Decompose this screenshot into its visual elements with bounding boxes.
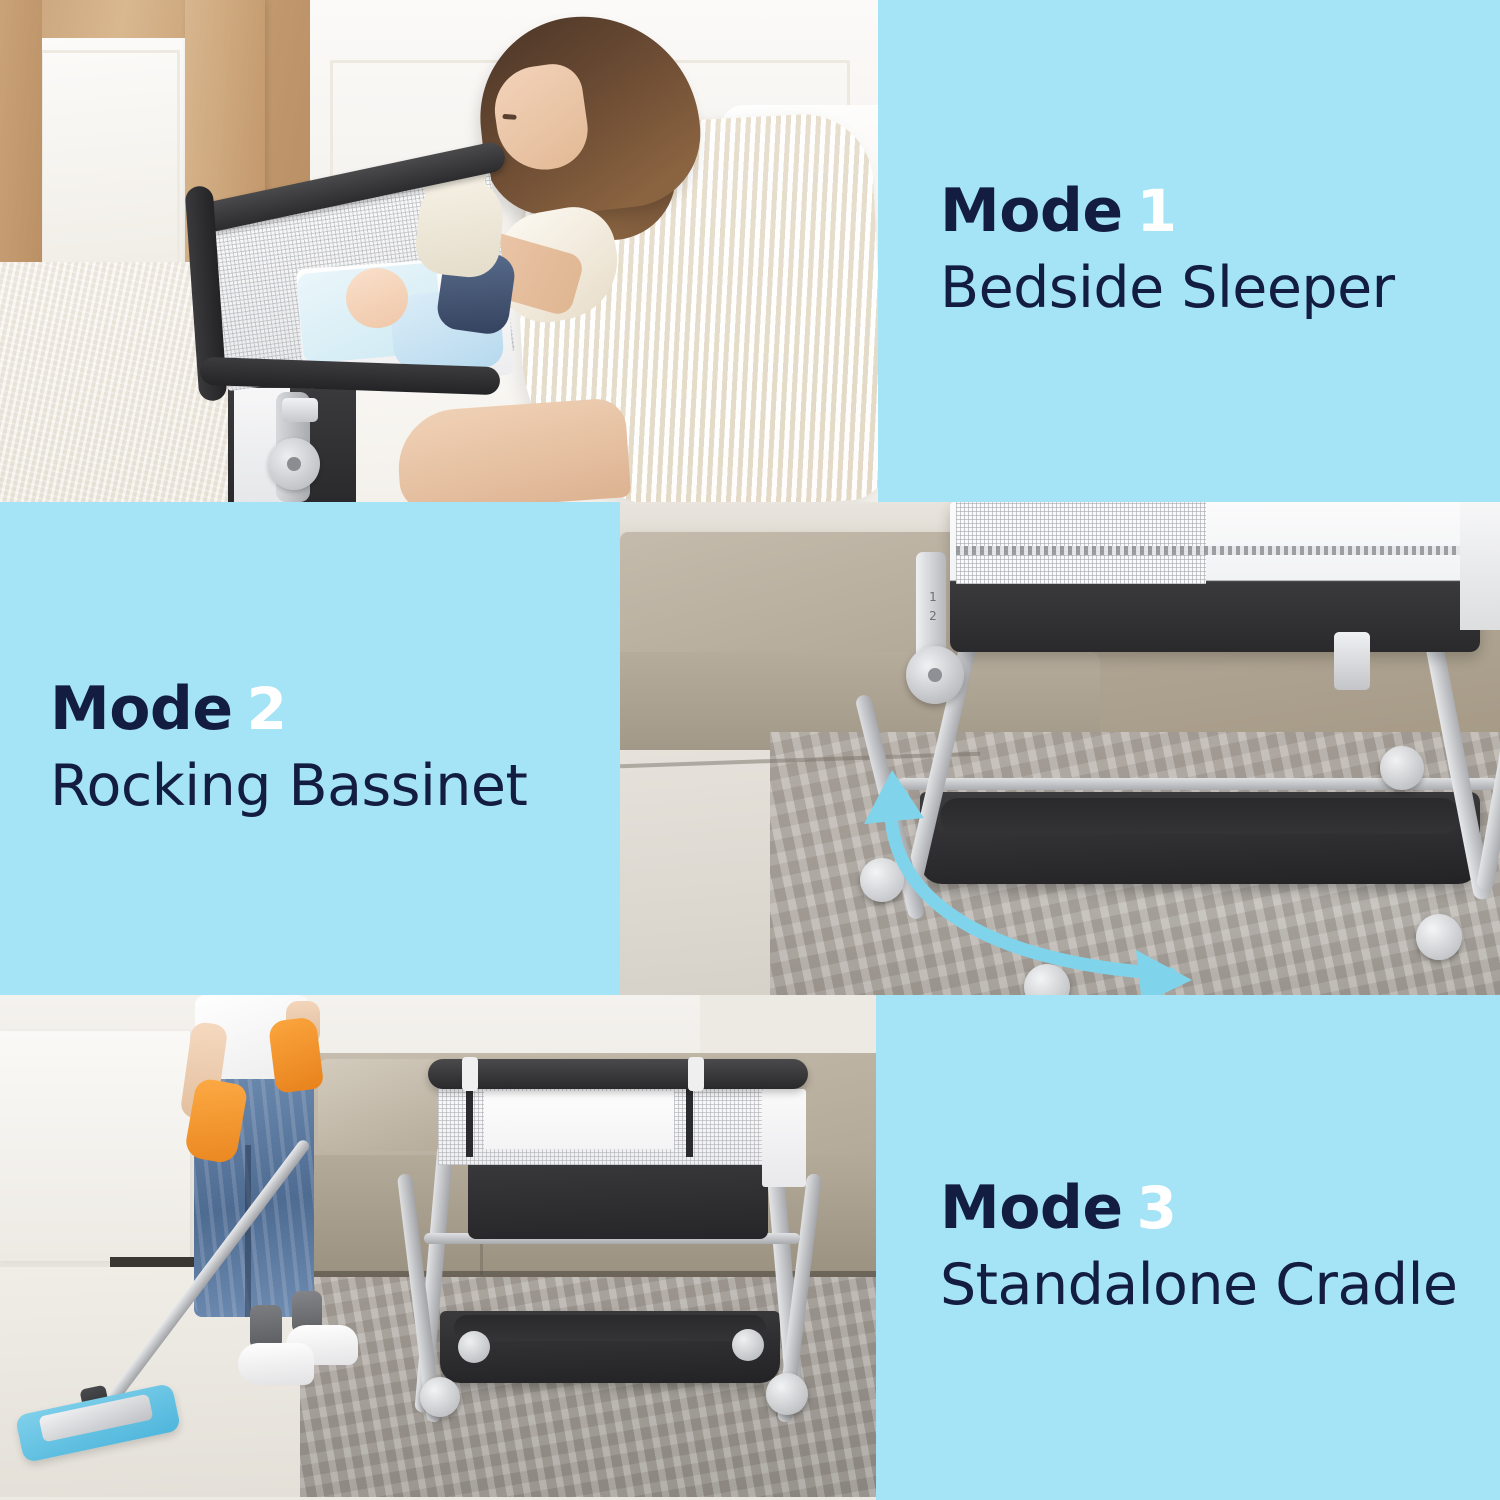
caster-wheel-rear-left: [458, 1331, 490, 1363]
mode-1-label: Mode: [940, 176, 1123, 246]
photo-standalone-cradle: [0, 995, 876, 1500]
photo-bedside-sleeper: [0, 0, 878, 502]
baby-head: [346, 268, 408, 328]
caster-wheel-front-right: [1416, 914, 1462, 960]
bassinet-side-pocket: [1460, 502, 1500, 630]
storage-basket-interior: [454, 1315, 766, 1341]
mode-1-heading: Mode1: [940, 181, 1500, 241]
bassinet-trim-stripe: [956, 546, 1476, 555]
mode-2-label: Mode: [50, 674, 233, 744]
bassinet-strap-right: [686, 1085, 693, 1157]
side-bracket: [1334, 632, 1370, 690]
infographic-sheet: Mode1 Bedside Sleeper Mode2 Rocking Bass…: [0, 0, 1500, 1500]
caster-wheel-front-right: [766, 1373, 808, 1415]
height-adjust-markings: 12: [926, 588, 940, 628]
orange-glove-right: [268, 1016, 324, 1093]
bassinet-strap-left: [466, 1085, 473, 1157]
mode-1-subtitle: Bedside Sleeper: [940, 257, 1500, 321]
rail-ring-left: [462, 1057, 478, 1091]
bassinet-mesh-window: [484, 1091, 674, 1149]
woman-sneaker-left: [238, 1343, 314, 1385]
bassinet-side-pocket: [762, 1089, 806, 1187]
rocking-motion-arrow: [840, 752, 1260, 995]
door-frame-left-post: [0, 0, 42, 290]
frame-hinge-knob: [906, 646, 964, 704]
caster-wheel-rear-right: [1380, 746, 1424, 790]
mode-1-number: 1: [1137, 177, 1177, 245]
caster-wheel-front-left: [420, 1377, 460, 1417]
bassinet-mesh-window: [956, 502, 1206, 584]
cradle-assembly: [410, 1033, 830, 1453]
mode-2-heading: Mode2: [50, 679, 620, 739]
caster-wheel-rear-right: [732, 1329, 764, 1361]
mode-3-heading: Mode3: [940, 1178, 1500, 1238]
mode-3-number: 3: [1137, 1174, 1177, 1242]
mode-3-subtitle: Standalone Cradle: [940, 1254, 1500, 1318]
mode-2-number: 2: [247, 675, 287, 743]
bassinet-adjust-knob: [268, 438, 320, 490]
mode-2-text-block: Mode2 Rocking Bassinet: [0, 502, 620, 995]
mode-3-text-block: Mode3 Standalone Cradle: [876, 995, 1500, 1500]
door-inner-moulding: [40, 50, 180, 265]
bassinet-height-clip: [282, 398, 318, 422]
mode-1-text-block: Mode1 Bedside Sleeper: [878, 0, 1500, 502]
mode-3-label: Mode: [940, 1173, 1123, 1243]
wall-panel: [0, 1031, 190, 1261]
rail-ring-right: [688, 1057, 704, 1091]
mode-2-subtitle: Rocking Bassinet: [50, 755, 620, 819]
bassinet-top-rail: [428, 1059, 808, 1089]
photo-rocking-bassinet: 12: [620, 502, 1500, 995]
